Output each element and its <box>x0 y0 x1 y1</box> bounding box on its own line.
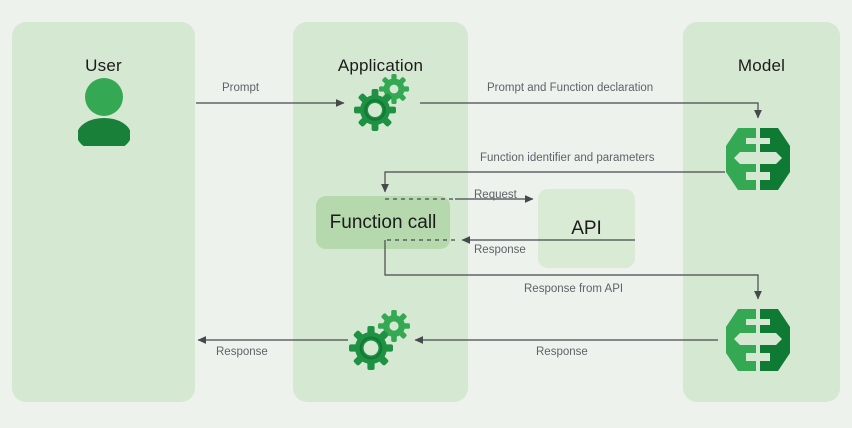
edge-label-response-model: Response <box>536 346 588 358</box>
edge-label-prompt-and-declaration: Prompt and Function declaration <box>487 82 653 94</box>
diagram-canvas: User Application Model Function call API <box>0 0 852 428</box>
edge-label-prompt: Prompt <box>222 82 259 94</box>
edge-label-response-api: Response <box>474 244 526 256</box>
edge-label-function-id-params: Function identifier and parameters <box>480 152 655 164</box>
edge-function-id-params <box>385 172 725 192</box>
connector-layer <box>0 0 852 428</box>
edge-prompt-and-declaration <box>420 103 758 118</box>
edge-label-request: Request <box>474 189 517 201</box>
edge-label-response-from-api: Response from API <box>524 283 623 295</box>
edge-label-response-user: Response <box>216 346 268 358</box>
